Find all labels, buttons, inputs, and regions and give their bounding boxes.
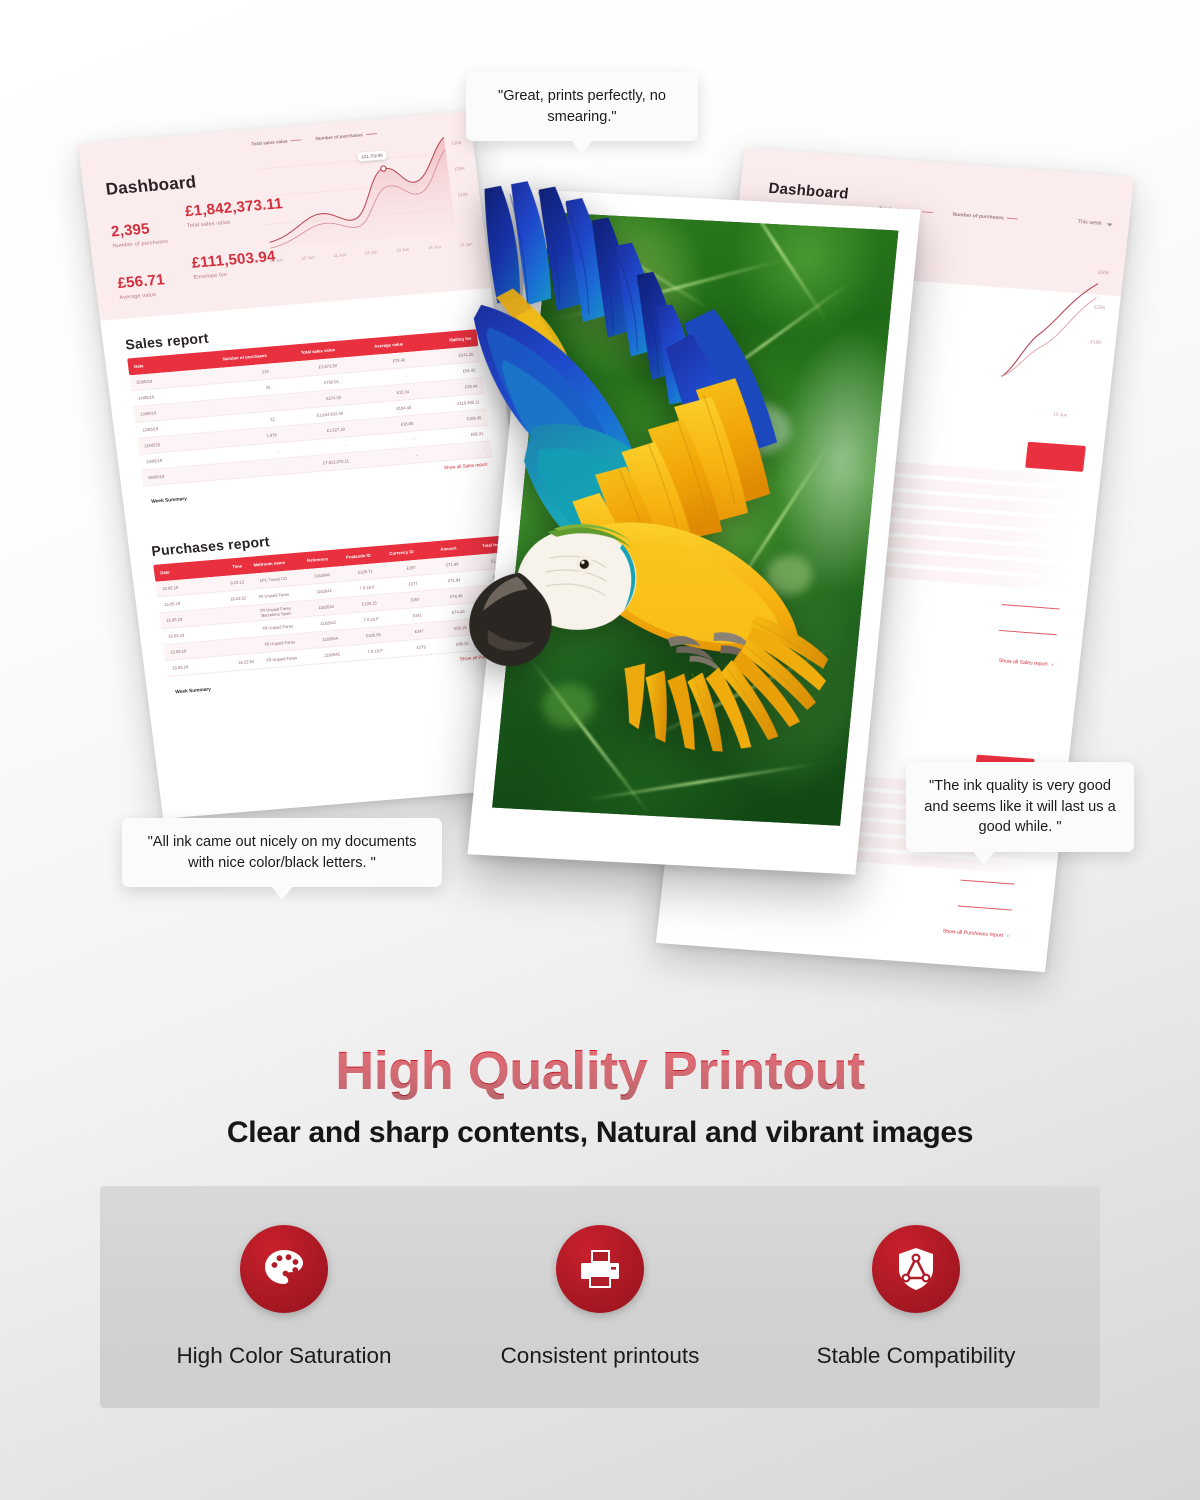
x-tick: 10 Jun — [301, 255, 314, 261]
cell-currency: £78.46 — [423, 593, 463, 601]
cell-fee: £110,495.11 — [415, 399, 480, 409]
x-tick: 15 Jun — [459, 241, 472, 247]
column-header[interactable]: Currency ID — [374, 549, 414, 557]
column-header[interactable]: Time — [203, 563, 243, 571]
divider — [1002, 604, 1060, 609]
cell-merchant: TR Unpaid Fares Barcelona Spain — [251, 605, 291, 618]
cell-reference: 1182645 — [301, 652, 341, 660]
testimonial-bubble-top: "Great, prints perfectly, no smearing." — [466, 72, 698, 141]
cell-reference: 1182643 — [297, 620, 337, 628]
cell-total: £7,812,075.11 — [284, 458, 349, 468]
y-tick: £30K — [1098, 271, 1110, 277]
cell-currency: £98.16 — [429, 641, 469, 649]
testimonial-bubble-right: "The ink quality is very good and seems … — [906, 762, 1134, 852]
feature-stable-compatibility: Stable Compatibility — [766, 1225, 1066, 1369]
feature-label: High Color Saturation — [176, 1343, 391, 1369]
cell-fee: £28.44 — [413, 383, 478, 393]
cell-time — [211, 629, 250, 632]
cell-date: 11/05/19 — [144, 438, 209, 448]
y-tick: £20K — [454, 166, 465, 172]
feature-strip: High Color Saturation Consistent printou… — [100, 1186, 1100, 1408]
cell-reference: 1182642 — [295, 604, 335, 612]
jungle-background — [492, 212, 898, 825]
printer-icon — [576, 1245, 624, 1293]
cell-purchases: 1,978 — [212, 432, 277, 442]
cell-average: £104.40 — [347, 405, 412, 415]
palette-icon-badge — [240, 1225, 328, 1313]
cell-date: 15.05.19 — [164, 599, 204, 607]
feature-label: Consistent printouts — [501, 1343, 700, 1369]
table-header-chip — [1025, 442, 1086, 472]
cell-purchases: - — [216, 464, 281, 474]
cell-total: £756.91 — [274, 379, 339, 389]
feature-consistent-printouts: Consistent printouts — [450, 1225, 750, 1369]
cell-average: - — [351, 437, 416, 447]
purchases-report-heading: Purchases report — [150, 533, 270, 559]
link-label: Show all Purchases report — [942, 928, 1003, 939]
cell-date: 12/05/19 — [142, 422, 207, 432]
page-title: High Quality Printout — [0, 1040, 1200, 1102]
hero-section: Dashboard 2,395 Number of purchases £1,8… — [0, 0, 1200, 1020]
page-subtitle: Clear and sharp contents, Natural and vi… — [0, 1116, 1200, 1150]
cell-date: 09/05/19 — [148, 470, 213, 480]
divider — [961, 880, 1015, 885]
cell-postal: £106.05 — [342, 632, 382, 640]
cell-purchases: - — [208, 400, 273, 410]
cell-fee: £66.31 — [419, 431, 484, 441]
cell-date: 15.05.19 — [166, 615, 206, 623]
cell-total: - — [282, 442, 347, 452]
x-tick: 11 Jun — [333, 252, 346, 258]
column-header[interactable]: Date — [134, 359, 199, 369]
chevron-down-icon — [1107, 223, 1113, 226]
testimonial-bubble-left: "All ink came out nicely on my documents… — [122, 818, 442, 887]
cell-average: - — [353, 453, 418, 463]
column-header[interactable]: Average value — [339, 341, 404, 351]
purchases-report-table: Date Time Mailroom name Reference Postco… — [153, 535, 521, 695]
shield-icon — [892, 1245, 940, 1293]
cell-time — [213, 645, 252, 648]
x-tick: 09 Jun — [270, 257, 283, 263]
cell-average: - — [343, 373, 408, 383]
cell-time: 8:23:12 — [205, 579, 245, 587]
cell-merchant: TR Unpaid Fares — [250, 592, 290, 600]
cell-purchases: - — [214, 448, 279, 458]
cell-reference: 1182641 — [293, 588, 333, 596]
kpi-value: £56.71 — [117, 271, 166, 292]
sales-report-table: Date Number of purchases Total sales val… — [127, 329, 495, 505]
cell-amount: £379 — [386, 644, 426, 652]
palette-icon — [260, 1245, 308, 1293]
cell-total: £274.30 — [276, 395, 341, 405]
printer-icon-badge — [556, 1225, 644, 1313]
cell-average: £18.80 — [349, 421, 414, 431]
cell-merchant: TR Unpaid Fares — [254, 623, 294, 631]
cell-time: 18:22:52 — [215, 659, 255, 667]
cell-date: 10/05/19 — [146, 454, 211, 464]
sales-line-chart-right — [998, 273, 1100, 389]
cell-date: 15/05/19 — [136, 374, 201, 384]
cell-total: £1,834,502.40 — [278, 411, 343, 421]
cell-date: 15.05.19 — [170, 646, 210, 654]
cell-date: 14/05/19 — [138, 390, 203, 400]
cell-average: £78.40 — [341, 357, 406, 367]
cell-total: £1,627.30 — [280, 427, 345, 437]
cell-merchant: 1FC Travel CO — [248, 576, 288, 584]
cell-fee: £61.42 — [411, 367, 476, 377]
column-header[interactable]: Total fee — [460, 542, 500, 550]
show-all-purchases-report-link-right[interactable]: Show all Purchases report › — [942, 928, 1009, 939]
photo-image-jungle — [492, 212, 898, 825]
cell-currency: £71.94 — [421, 577, 461, 585]
cell-total: £3,873.50 — [272, 363, 337, 373]
cell-amount: £297 — [376, 565, 416, 573]
cell-amount: £377 — [378, 581, 418, 589]
column-header[interactable]: Date — [160, 567, 200, 575]
kpi-number-of-purchases: 2,395 Number of purchases — [110, 219, 168, 249]
cell-currency: £71.99 — [419, 561, 459, 569]
cell-time — [209, 614, 248, 617]
cell-merchant: TR Unpaid Fares — [256, 639, 296, 647]
x-tick: 14 Jun — [428, 244, 441, 250]
y-tick: £10K — [458, 192, 469, 198]
cell-date: 15.05.19 — [172, 662, 212, 670]
y-tick: £30K — [451, 140, 462, 146]
cell-date: 13/05/19 — [140, 406, 205, 416]
cell-postal: 7.0.18.P — [336, 584, 376, 592]
x-tick: 13 Jun — [396, 247, 409, 253]
column-header[interactable]: Postcode ID — [332, 553, 372, 561]
column-header[interactable]: Total sales value — [270, 347, 335, 357]
cell-currency: £74.40 — [425, 609, 465, 617]
photo-printout — [467, 189, 920, 874]
show-all-sales-report-link-right[interactable]: Show all Sales report › — [998, 658, 1053, 668]
column-header[interactable]: Mailroom name — [246, 560, 286, 568]
cell-postal: £105.71 — [334, 569, 374, 577]
cell-fee: - — [421, 447, 486, 457]
column-header[interactable]: Reference — [289, 556, 329, 564]
x-tick: 15 Jun — [1053, 412, 1067, 418]
headline-block: High Quality Printout Clear and sharp co… — [0, 1040, 1200, 1150]
cell-reference: 1182640 — [291, 572, 331, 580]
shield-icon-badge — [872, 1225, 960, 1313]
kpi-value: 2,395 — [110, 219, 167, 240]
divider — [958, 905, 1012, 910]
cell-postal: 7.0.18.P — [344, 648, 384, 656]
cell-postal: £100.15 — [338, 600, 378, 608]
cell-merchant: TR Unpaid Fares — [258, 655, 298, 663]
column-header[interactable]: Number of purchases — [202, 353, 267, 363]
arrow-right-icon: › — [1051, 662, 1053, 668]
cell-time: 18:22:22 — [207, 595, 247, 603]
feature-label: Stable Compatibility — [817, 1343, 1016, 1369]
kpi-average-value: £56.71 Average value — [117, 271, 167, 301]
cell-amount: £341 — [382, 613, 422, 621]
cell-date: 15.05.19 — [168, 631, 208, 639]
cell-purchases: 91 — [206, 385, 271, 395]
column-header[interactable]: Amount — [417, 545, 457, 553]
cell-postal: 7.0.18.P — [340, 616, 380, 624]
sales-report-heading: Sales report — [124, 330, 209, 353]
feature-high-color-saturation: High Color Saturation — [134, 1225, 434, 1369]
cell-purchases: 12 — [210, 416, 275, 426]
link-label: Show all Sales report — [998, 658, 1048, 668]
cell-average: £15.34 — [345, 389, 410, 399]
cell-fee: £159.45 — [417, 415, 482, 425]
divider — [999, 630, 1057, 635]
cell-amount: £347 — [384, 628, 424, 636]
sales-line-chart-left: Total sales value Number of purchases — [247, 122, 477, 265]
cell-fee: £241.25 — [409, 352, 474, 362]
cell-reference: 1182644 — [299, 636, 339, 644]
cell-currency: £69.19 — [427, 625, 467, 633]
cell-amount: £357 — [380, 597, 420, 605]
cell-purchases: 234 — [204, 369, 269, 379]
cell-date: 15.05.19 — [162, 583, 202, 591]
arrow-right-icon: › — [1007, 933, 1009, 939]
column-header[interactable]: Mailing fee — [407, 336, 472, 346]
